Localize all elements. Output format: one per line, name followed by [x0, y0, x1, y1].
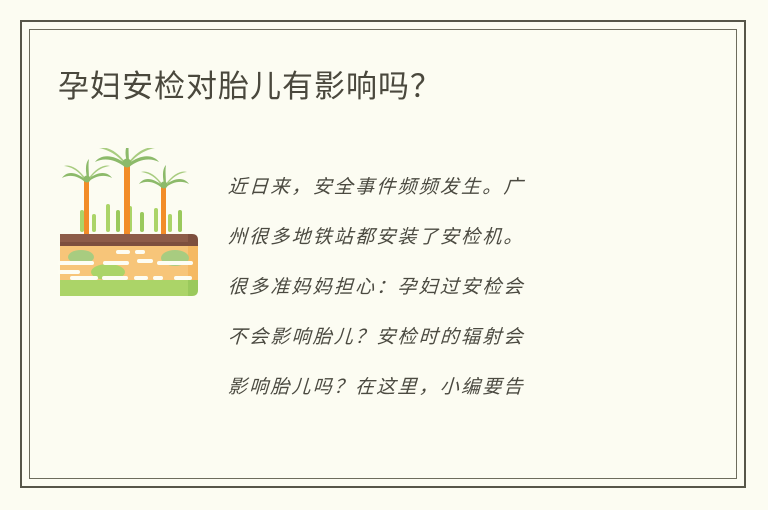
article-line: 很多准妈妈担心：孕妇过安检会	[227, 262, 650, 312]
article-line: 近日来，安全事件频频发生。广	[227, 162, 650, 212]
article-line: 影响胎儿吗？在这里，小编要告	[227, 362, 650, 412]
palm-tree-left	[62, 159, 112, 234]
article-line: 州很多地铁站都安装了安检机。	[227, 212, 650, 262]
article-body: 近日来，安全事件频频发生。广 州很多地铁站都安装了安检机。 很多准妈妈担心：孕妇…	[228, 162, 648, 412]
oasis-illustration	[58, 148, 200, 298]
page-title: 孕妇安检对胎儿有影响吗？	[58, 66, 698, 108]
article-card: 孕妇安检对胎儿有影响吗？	[0, 0, 768, 510]
oasis-illustration-svg	[58, 148, 200, 298]
grass-blades-group	[80, 204, 182, 232]
ground-cross-section	[58, 234, 198, 296]
article-line: 不会影响胎儿？安检时的辐射会	[227, 312, 650, 362]
palm-tree-center	[95, 148, 159, 234]
